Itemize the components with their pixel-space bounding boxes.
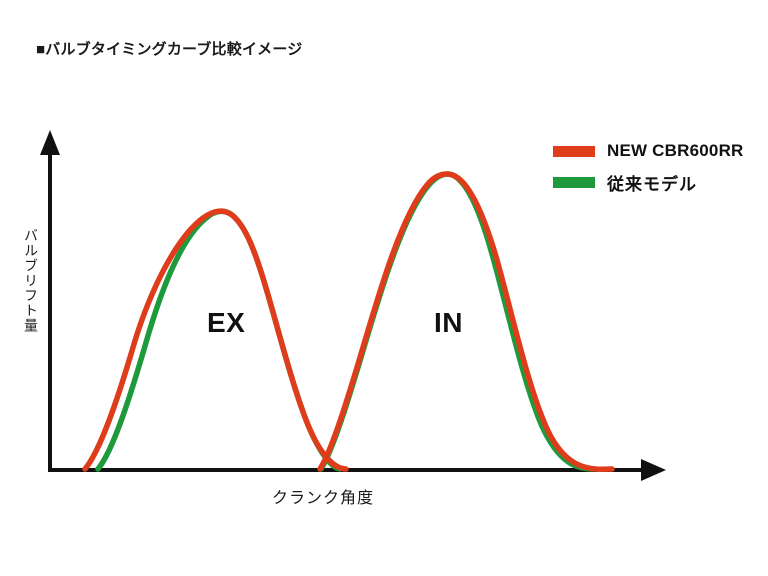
chart-legend: NEW CBR600RR 従来モデル <box>553 141 744 192</box>
curve-label-intake: IN <box>434 307 463 339</box>
legend-label-new: NEW CBR600RR <box>607 141 744 161</box>
curve-ex-new <box>85 211 346 469</box>
series-new-cbr600rr <box>85 174 612 469</box>
legend-item-new-cbr600rr: NEW CBR600RR <box>553 141 744 161</box>
legend-swatch-conventional <box>553 177 595 188</box>
valve-lift-chart-plot <box>0 0 768 576</box>
y-axis-label: バルブリフト量 <box>12 228 38 333</box>
chart-page: ■バルブタイミングカーブ比較イメージ バルブリフト量 <box>0 0 768 576</box>
legend-label-conventional: 従来モデル <box>607 170 697 195</box>
legend-item-conventional: 従来モデル <box>553 172 744 192</box>
legend-swatch-new <box>553 146 595 157</box>
x-axis-arrow-icon <box>641 459 666 481</box>
series-conventional-model <box>98 174 593 469</box>
curve-label-exhaust: EX <box>207 307 245 339</box>
y-axis-arrow-icon <box>40 130 60 155</box>
x-axis-label: クランク角度 <box>272 484 374 508</box>
curve-in-new <box>320 174 612 469</box>
